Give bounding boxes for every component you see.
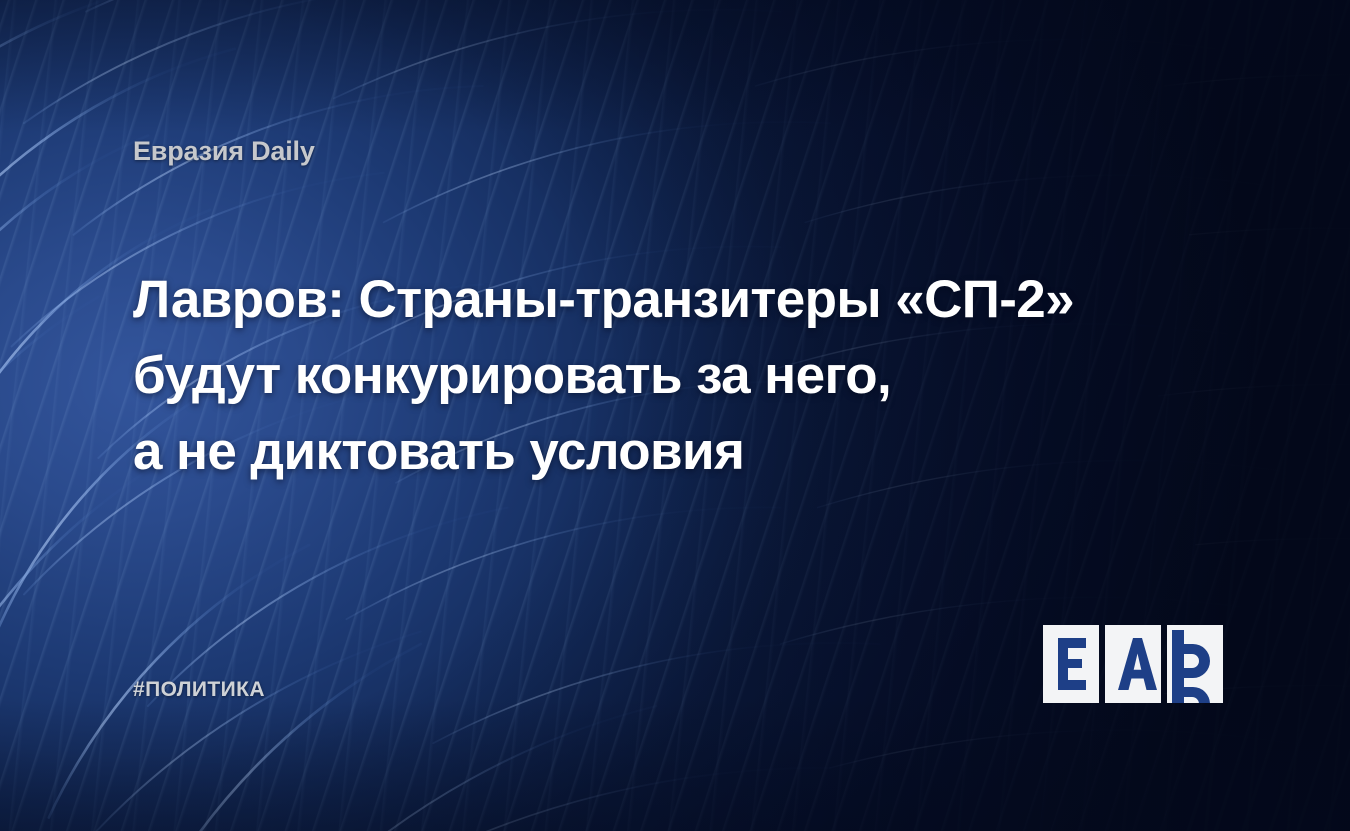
social-share-card: Евразия Daily Лавров: Страны-транзитеры … [0, 0, 1350, 831]
headline: Лавров: Страны-транзитеры «СП-2» будут к… [133, 262, 1193, 490]
card-content: Евразия Daily Лавров: Страны-транзитеры … [0, 0, 1350, 831]
headline-line-2: будут конкурировать за него, [133, 338, 1193, 414]
ead-logo [1043, 625, 1225, 703]
category-hashtag[interactable]: #ПОЛИТИКА [133, 678, 265, 702]
headline-line-3: а не диктовать условия [133, 414, 1193, 490]
headline-line-1: Лавров: Страны-транзитеры «СП-2» [133, 262, 1193, 338]
logo-letter-e [1058, 638, 1086, 690]
brand-wordmark: Евразия Daily [133, 136, 315, 167]
